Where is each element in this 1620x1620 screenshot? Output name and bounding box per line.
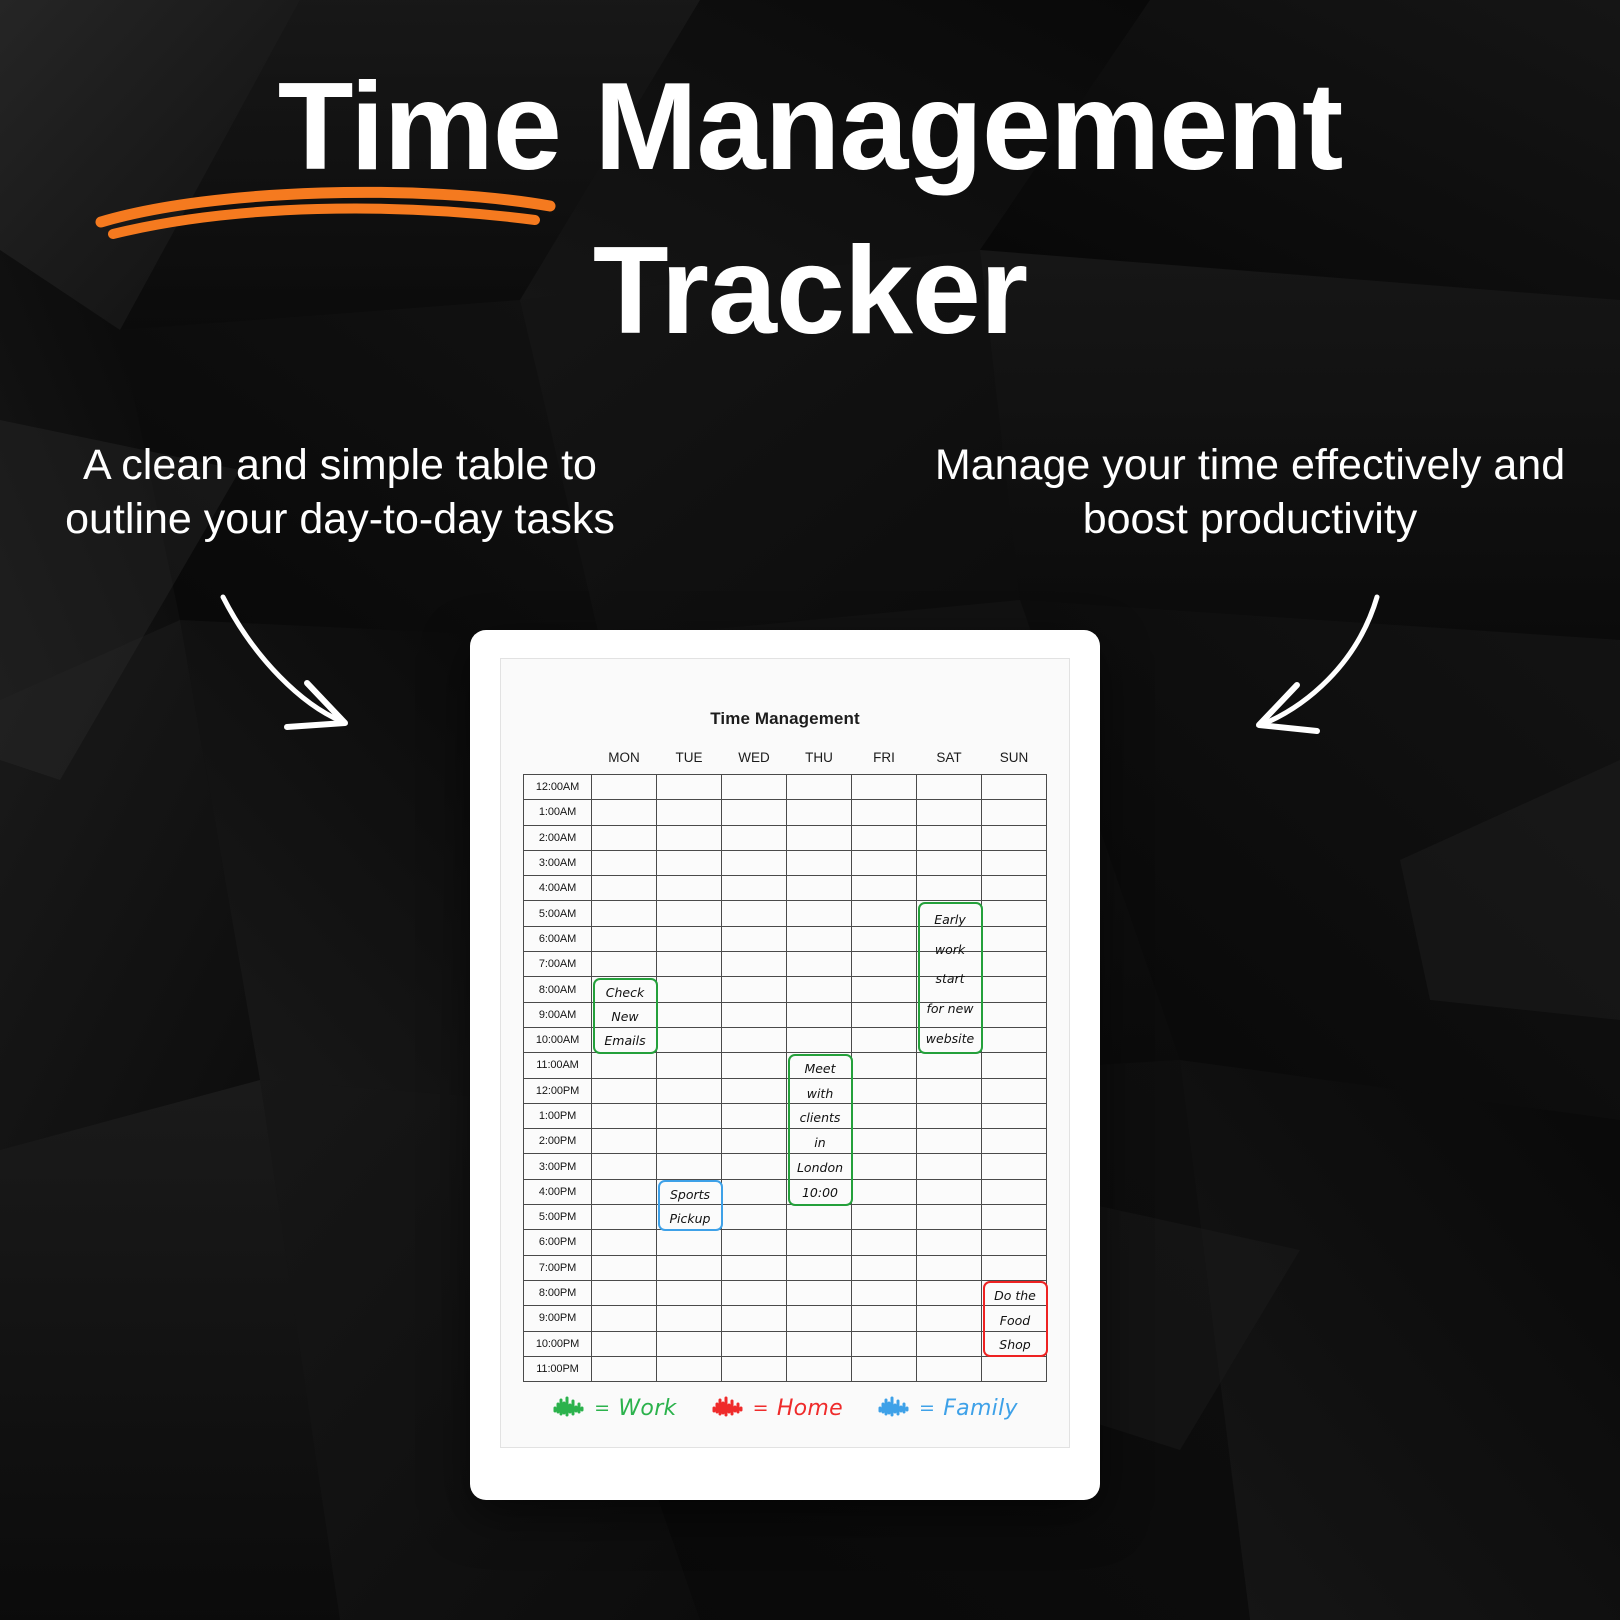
sheet-title: Time Management xyxy=(501,709,1069,729)
slot-cell-sun-1100AM[interactable] xyxy=(982,1053,1047,1078)
slot-cell-wed-100PM[interactable] xyxy=(722,1103,787,1128)
legend: = Work = Home xyxy=(501,1395,1069,1421)
slot-cell-fri-300AM[interactable] xyxy=(852,850,917,875)
slot-cell-tue-1200AM[interactable] xyxy=(657,775,722,800)
slot-cell-thu-1000AM[interactable] xyxy=(787,1027,852,1052)
slot-cell-tue-100PM[interactable] xyxy=(657,1103,722,1128)
legend-item-family: = Family xyxy=(877,1395,1018,1421)
slot-cell-sun-1100PM[interactable] xyxy=(982,1356,1047,1381)
slot-cell-wed-1200PM[interactable] xyxy=(722,1078,787,1103)
table-row: 9:00PM xyxy=(524,1306,1047,1331)
slot-cell-sat-300PM[interactable] xyxy=(917,1154,982,1179)
slot-cell-sat-900AM[interactable] xyxy=(917,1002,982,1027)
slot-cell-wed-600PM[interactable] xyxy=(722,1230,787,1255)
legend-label-work: Work xyxy=(618,1396,676,1421)
table-corner-cell xyxy=(524,749,592,775)
slot-cell-thu-1200PM[interactable] xyxy=(787,1078,852,1103)
slot-cell-sun-300AM[interactable] xyxy=(982,850,1047,875)
time-label-cell: 6:00AM xyxy=(524,926,592,951)
slot-cell-sat-1200PM[interactable] xyxy=(917,1078,982,1103)
slot-cell-sat-100AM[interactable] xyxy=(917,800,982,825)
slot-cell-tue-800PM[interactable] xyxy=(657,1280,722,1305)
time-label-cell: 9:00AM xyxy=(524,1002,592,1027)
slot-cell-sat-600PM[interactable] xyxy=(917,1230,982,1255)
slot-cell-fri-1200PM[interactable] xyxy=(852,1078,917,1103)
slot-cell-wed-200AM[interactable] xyxy=(722,825,787,850)
table-row: 1:00PM xyxy=(524,1103,1047,1128)
slot-cell-sun-300PM[interactable] xyxy=(982,1154,1047,1179)
slot-cell-fri-100AM[interactable] xyxy=(852,800,917,825)
table-row: 7:00PM xyxy=(524,1255,1047,1280)
slot-cell-wed-300AM[interactable] xyxy=(722,850,787,875)
time-label-cell: 12:00AM xyxy=(524,775,592,800)
time-label-cell: 1:00PM xyxy=(524,1103,592,1128)
page-title-line1: Time Management xyxy=(0,0,1620,190)
page-header: Time Management Tracker xyxy=(0,0,1620,355)
slot-cell-sat-200AM[interactable] xyxy=(917,825,982,850)
slot-cell-mon-1200AM[interactable] xyxy=(592,775,657,800)
legend-equals-home: = xyxy=(753,1397,769,1419)
slot-cell-tue-700PM[interactable] xyxy=(657,1255,722,1280)
slot-cell-mon-800AM[interactable] xyxy=(592,977,657,1002)
slot-cell-tue-800AM[interactable] xyxy=(657,977,722,1002)
legend-equals-family: = xyxy=(919,1397,935,1419)
slot-cell-tue-500PM[interactable] xyxy=(657,1205,722,1230)
day-header-fri: FRI xyxy=(852,749,917,775)
slot-cell-thu-400AM[interactable] xyxy=(787,876,852,901)
slot-cell-fri-200PM[interactable] xyxy=(852,1129,917,1154)
slot-cell-mon-500AM[interactable] xyxy=(592,901,657,926)
table-row: 11:00PM xyxy=(524,1356,1047,1381)
time-label-cell: 3:00AM xyxy=(524,850,592,875)
time-label-cell: 7:00AM xyxy=(524,952,592,977)
slot-cell-wed-1000AM[interactable] xyxy=(722,1027,787,1052)
slot-cell-thu-500PM[interactable] xyxy=(787,1205,852,1230)
time-label-cell: 5:00PM xyxy=(524,1205,592,1230)
slot-cell-thu-100AM[interactable] xyxy=(787,800,852,825)
slot-cell-sat-500PM[interactable] xyxy=(917,1205,982,1230)
time-label-cell: 2:00PM xyxy=(524,1129,592,1154)
time-label-cell: 4:00PM xyxy=(524,1179,592,1204)
slot-cell-sun-600AM[interactable] xyxy=(982,926,1047,951)
slot-cell-tue-500AM[interactable] xyxy=(657,901,722,926)
slot-cell-mon-500PM[interactable] xyxy=(592,1205,657,1230)
time-label-cell: 8:00PM xyxy=(524,1280,592,1305)
slot-cell-thu-300AM[interactable] xyxy=(787,850,852,875)
slot-cell-mon-400AM[interactable] xyxy=(592,876,657,901)
slot-cell-mon-800PM[interactable] xyxy=(592,1280,657,1305)
slot-cell-wed-1000PM[interactable] xyxy=(722,1331,787,1356)
slot-cell-sun-700AM[interactable] xyxy=(982,952,1047,977)
slot-cell-wed-900AM[interactable] xyxy=(722,1002,787,1027)
table-header-row: MON TUE WED THU FRI SAT SUN xyxy=(524,749,1047,775)
slot-cell-sat-200PM[interactable] xyxy=(917,1129,982,1154)
slot-cell-thu-1100PM[interactable] xyxy=(787,1356,852,1381)
slot-cell-tue-300AM[interactable] xyxy=(657,850,722,875)
slot-cell-fri-500PM[interactable] xyxy=(852,1205,917,1230)
slot-cell-tue-300PM[interactable] xyxy=(657,1154,722,1179)
arrow-right-icon xyxy=(1215,575,1405,745)
slot-cell-fri-700AM[interactable] xyxy=(852,952,917,977)
slot-cell-sun-100AM[interactable] xyxy=(982,800,1047,825)
table-row: 12:00AM xyxy=(524,775,1047,800)
time-label-cell: 5:00AM xyxy=(524,901,592,926)
slot-cell-sat-1200AM[interactable] xyxy=(917,775,982,800)
slot-cell-sat-1000PM[interactable] xyxy=(917,1331,982,1356)
slot-cell-fri-800AM[interactable] xyxy=(852,977,917,1002)
slot-cell-tue-600AM[interactable] xyxy=(657,926,722,951)
time-label-cell: 8:00AM xyxy=(524,977,592,1002)
slot-cell-thu-900AM[interactable] xyxy=(787,1002,852,1027)
slot-cell-mon-300PM[interactable] xyxy=(592,1154,657,1179)
time-label-cell: 4:00AM xyxy=(524,876,592,901)
slot-cell-mon-1000PM[interactable] xyxy=(592,1331,657,1356)
slot-cell-tue-1100AM[interactable] xyxy=(657,1053,722,1078)
slot-cell-fri-500AM[interactable] xyxy=(852,901,917,926)
slot-cell-thu-700PM[interactable] xyxy=(787,1255,852,1280)
slot-cell-wed-700AM[interactable] xyxy=(722,952,787,977)
slot-cell-mon-1100PM[interactable] xyxy=(592,1356,657,1381)
slot-cell-tue-1000AM[interactable] xyxy=(657,1027,722,1052)
slot-cell-fri-1000AM[interactable] xyxy=(852,1027,917,1052)
slot-cell-tue-600PM[interactable] xyxy=(657,1230,722,1255)
slot-cell-sat-600AM[interactable] xyxy=(917,926,982,951)
slot-cell-sun-500AM[interactable] xyxy=(982,901,1047,926)
slot-cell-sat-400AM[interactable] xyxy=(917,876,982,901)
time-label-cell: 9:00PM xyxy=(524,1306,592,1331)
slot-cell-sat-800AM[interactable] xyxy=(917,977,982,1002)
slot-cell-fri-900PM[interactable] xyxy=(852,1306,917,1331)
legend-label-family: Family xyxy=(943,1396,1018,1421)
slot-cell-sun-1000PM[interactable] xyxy=(982,1331,1047,1356)
slot-cell-sat-1100PM[interactable] xyxy=(917,1356,982,1381)
day-header-tue: TUE xyxy=(657,749,722,775)
slot-cell-mon-1200PM[interactable] xyxy=(592,1078,657,1103)
slot-cell-tue-900PM[interactable] xyxy=(657,1306,722,1331)
legend-equals-work: = xyxy=(594,1397,610,1419)
table-row: 3:00AM xyxy=(524,850,1047,875)
slot-cell-fri-400AM[interactable] xyxy=(852,876,917,901)
slot-cell-wed-400PM[interactable] xyxy=(722,1179,787,1204)
slot-cell-mon-300AM[interactable] xyxy=(592,850,657,875)
slot-cell-fri-800PM[interactable] xyxy=(852,1280,917,1305)
slot-cell-sun-800AM[interactable] xyxy=(982,977,1047,1002)
slot-cell-wed-100AM[interactable] xyxy=(722,800,787,825)
slot-cell-sun-400PM[interactable] xyxy=(982,1179,1047,1204)
slot-cell-sat-1000AM[interactable] xyxy=(917,1027,982,1052)
slot-cell-sat-1100AM[interactable] xyxy=(917,1053,982,1078)
slot-cell-tue-1200PM[interactable] xyxy=(657,1078,722,1103)
slot-cell-sat-700PM[interactable] xyxy=(917,1255,982,1280)
slot-cell-sat-700AM[interactable] xyxy=(917,952,982,977)
planner-sheet: Time Management MON TUE WED THU FRI SAT … xyxy=(500,658,1070,1448)
legend-item-home: = Home xyxy=(711,1395,843,1421)
slot-cell-sat-300AM[interactable] xyxy=(917,850,982,875)
slot-cell-thu-400PM[interactable] xyxy=(787,1179,852,1204)
slot-cell-wed-300PM[interactable] xyxy=(722,1154,787,1179)
slot-cell-mon-200AM[interactable] xyxy=(592,825,657,850)
slot-cell-fri-300PM[interactable] xyxy=(852,1154,917,1179)
slot-cell-thu-200PM[interactable] xyxy=(787,1129,852,1154)
slot-cell-tue-400AM[interactable] xyxy=(657,876,722,901)
waveform-icon xyxy=(877,1395,911,1421)
slot-cell-mon-100AM[interactable] xyxy=(592,800,657,825)
table-row: 4:00PM xyxy=(524,1179,1047,1204)
slot-cell-thu-800PM[interactable] xyxy=(787,1280,852,1305)
slot-cell-wed-1100AM[interactable] xyxy=(722,1053,787,1078)
time-label-cell: 12:00PM xyxy=(524,1078,592,1103)
slot-cell-thu-1100AM[interactable] xyxy=(787,1053,852,1078)
subtitle-left: A clean and simple table to outline your… xyxy=(20,438,660,546)
slot-cell-sun-500PM[interactable] xyxy=(982,1205,1047,1230)
slot-cell-sun-100PM[interactable] xyxy=(982,1103,1047,1128)
slot-cell-thu-800AM[interactable] xyxy=(787,977,852,1002)
slot-cell-sun-800PM[interactable] xyxy=(982,1280,1047,1305)
slot-cell-sun-1000AM[interactable] xyxy=(982,1027,1047,1052)
slot-cell-sun-900AM[interactable] xyxy=(982,1002,1047,1027)
slot-cell-tue-700AM[interactable] xyxy=(657,952,722,977)
slot-cell-fri-600PM[interactable] xyxy=(852,1230,917,1255)
slot-cell-sun-700PM[interactable] xyxy=(982,1255,1047,1280)
slot-cell-sat-400PM[interactable] xyxy=(917,1179,982,1204)
subtitle-right: Manage your time effectively and boost p… xyxy=(930,438,1570,546)
slot-cell-fri-1000PM[interactable] xyxy=(852,1331,917,1356)
slot-cell-sun-400AM[interactable] xyxy=(982,876,1047,901)
slot-cell-wed-800AM[interactable] xyxy=(722,977,787,1002)
day-header-thu: THU xyxy=(787,749,852,775)
slot-cell-mon-1100AM[interactable] xyxy=(592,1053,657,1078)
slot-cell-sun-200AM[interactable] xyxy=(982,825,1047,850)
slot-cell-sun-200PM[interactable] xyxy=(982,1129,1047,1154)
slot-cell-mon-400PM[interactable] xyxy=(592,1179,657,1204)
day-header-sun: SUN xyxy=(982,749,1047,775)
table-row: 6:00PM xyxy=(524,1230,1047,1255)
table-row: 11:00AM xyxy=(524,1053,1047,1078)
slot-cell-wed-600AM[interactable] xyxy=(722,926,787,951)
time-label-cell: 11:00PM xyxy=(524,1356,592,1381)
table-row: 10:00PM xyxy=(524,1331,1047,1356)
table-row: 4:00AM xyxy=(524,876,1047,901)
slot-cell-thu-300PM[interactable] xyxy=(787,1154,852,1179)
slot-cell-fri-1100AM[interactable] xyxy=(852,1053,917,1078)
table-row: 8:00AM xyxy=(524,977,1047,1002)
time-label-cell: 2:00AM xyxy=(524,825,592,850)
table-row: 7:00AM xyxy=(524,952,1047,977)
slot-cell-wed-200PM[interactable] xyxy=(722,1129,787,1154)
slot-cell-mon-700AM[interactable] xyxy=(592,952,657,977)
slot-cell-tue-100AM[interactable] xyxy=(657,800,722,825)
legend-label-home: Home xyxy=(777,1396,843,1421)
table-row: 5:00PM xyxy=(524,1205,1047,1230)
slot-cell-thu-900PM[interactable] xyxy=(787,1306,852,1331)
slot-cell-thu-600PM[interactable] xyxy=(787,1230,852,1255)
slot-cell-wed-900PM[interactable] xyxy=(722,1306,787,1331)
time-label-cell: 6:00PM xyxy=(524,1230,592,1255)
slot-cell-sun-1200AM[interactable] xyxy=(982,775,1047,800)
table-row: 5:00AM xyxy=(524,901,1047,926)
time-label-cell: 3:00PM xyxy=(524,1154,592,1179)
slot-cell-wed-700PM[interactable] xyxy=(722,1255,787,1280)
slot-cell-thu-200AM[interactable] xyxy=(787,825,852,850)
slot-cell-sat-500AM[interactable] xyxy=(917,901,982,926)
slot-cell-sun-1200PM[interactable] xyxy=(982,1078,1047,1103)
slot-cell-mon-700PM[interactable] xyxy=(592,1255,657,1280)
slot-cell-tue-1100PM[interactable] xyxy=(657,1356,722,1381)
time-label-cell: 10:00AM xyxy=(524,1027,592,1052)
slot-cell-tue-900AM[interactable] xyxy=(657,1002,722,1027)
slot-cell-sun-600PM[interactable] xyxy=(982,1230,1047,1255)
slot-cell-thu-700AM[interactable] xyxy=(787,952,852,977)
legend-item-work: = Work xyxy=(552,1395,676,1421)
table-row: 10:00AM xyxy=(524,1027,1047,1052)
day-header-mon: MON xyxy=(592,749,657,775)
slot-cell-mon-600PM[interactable] xyxy=(592,1230,657,1255)
slot-cell-wed-1100PM[interactable] xyxy=(722,1356,787,1381)
slot-cell-thu-1200AM[interactable] xyxy=(787,775,852,800)
day-header-wed: WED xyxy=(722,749,787,775)
table-row: 6:00AM xyxy=(524,926,1047,951)
slot-cell-fri-100PM[interactable] xyxy=(852,1103,917,1128)
slot-cell-mon-900AM[interactable] xyxy=(592,1002,657,1027)
slot-cell-wed-1200AM[interactable] xyxy=(722,775,787,800)
slot-cell-thu-500AM[interactable] xyxy=(787,901,852,926)
slot-cell-tue-1000PM[interactable] xyxy=(657,1331,722,1356)
slot-cell-sat-800PM[interactable] xyxy=(917,1280,982,1305)
slot-cell-thu-100PM[interactable] xyxy=(787,1103,852,1128)
day-header-sat: SAT xyxy=(917,749,982,775)
slot-cell-fri-400PM[interactable] xyxy=(852,1179,917,1204)
time-label-cell: 10:00PM xyxy=(524,1331,592,1356)
time-label-cell: 1:00AM xyxy=(524,800,592,825)
table-row: 9:00AM xyxy=(524,1002,1047,1027)
slot-cell-sun-900PM[interactable] xyxy=(982,1306,1047,1331)
table-row: 12:00PM xyxy=(524,1078,1047,1103)
slot-cell-sat-100PM[interactable] xyxy=(917,1103,982,1128)
arrow-left-icon xyxy=(195,575,385,745)
slot-cell-tue-400PM[interactable] xyxy=(657,1179,722,1204)
slot-cell-wed-500PM[interactable] xyxy=(722,1205,787,1230)
slot-cell-wed-400AM[interactable] xyxy=(722,876,787,901)
slot-cell-fri-200AM[interactable] xyxy=(852,825,917,850)
slot-cell-wed-800PM[interactable] xyxy=(722,1280,787,1305)
table-row: 2:00AM xyxy=(524,825,1047,850)
table-row: 2:00PM xyxy=(524,1129,1047,1154)
slot-cell-wed-500AM[interactable] xyxy=(722,901,787,926)
slot-cell-fri-900AM[interactable] xyxy=(852,1002,917,1027)
slot-cell-mon-100PM[interactable] xyxy=(592,1103,657,1128)
table-row: 1:00AM xyxy=(524,800,1047,825)
slot-cell-tue-200AM[interactable] xyxy=(657,825,722,850)
page-title-line2: Tracker xyxy=(0,228,1620,354)
schedule-table: MON TUE WED THU FRI SAT SUN 12:00AM1:00A… xyxy=(523,749,1047,1382)
slot-cell-sat-900PM[interactable] xyxy=(917,1306,982,1331)
slot-cell-fri-1200AM[interactable] xyxy=(852,775,917,800)
slot-cell-fri-1100PM[interactable] xyxy=(852,1356,917,1381)
waveform-icon xyxy=(552,1395,586,1421)
slot-cell-mon-900PM[interactable] xyxy=(592,1306,657,1331)
slot-cell-mon-600AM[interactable] xyxy=(592,926,657,951)
slot-cell-fri-600AM[interactable] xyxy=(852,926,917,951)
waveform-icon xyxy=(711,1395,745,1421)
table-row: 8:00PM xyxy=(524,1280,1047,1305)
slot-cell-thu-600AM[interactable] xyxy=(787,926,852,951)
time-label-cell: 11:00AM xyxy=(524,1053,592,1078)
slot-cell-fri-700PM[interactable] xyxy=(852,1255,917,1280)
slot-cell-mon-200PM[interactable] xyxy=(592,1129,657,1154)
table-row: 3:00PM xyxy=(524,1154,1047,1179)
slot-cell-mon-1000AM[interactable] xyxy=(592,1027,657,1052)
tablet-device-frame: Time Management MON TUE WED THU FRI SAT … xyxy=(470,630,1100,1500)
slot-cell-tue-200PM[interactable] xyxy=(657,1129,722,1154)
slot-cell-thu-1000PM[interactable] xyxy=(787,1331,852,1356)
time-label-cell: 7:00PM xyxy=(524,1255,592,1280)
